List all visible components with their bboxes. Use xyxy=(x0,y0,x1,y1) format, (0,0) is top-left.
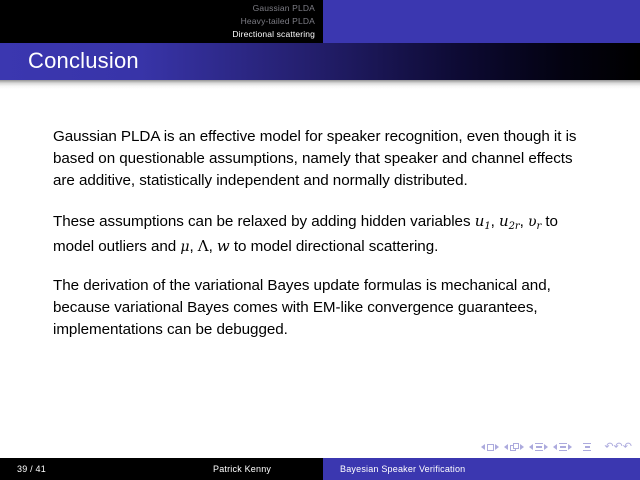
triangle-left-icon xyxy=(529,444,533,450)
triangle-right-icon xyxy=(568,444,572,450)
footer-page-number: 39 / 41 xyxy=(0,458,213,480)
triangle-right-icon xyxy=(520,444,524,450)
slide: Gaussian PLDA Heavy-tailed PLDA Directio… xyxy=(0,0,640,480)
footer-presentation-title: Bayesian Speaker Verification xyxy=(323,458,640,480)
variable-u2r-subscript: 2r xyxy=(509,221,520,232)
title-bar-shadow xyxy=(0,80,640,89)
triangle-right-icon xyxy=(544,444,548,450)
slide-body: Gaussian PLDA is an effective model for … xyxy=(53,126,589,342)
triangle-left-icon xyxy=(553,444,557,450)
nav-item-directional-scattering[interactable]: Directional scattering xyxy=(0,28,315,41)
paragraph-2-text-lead: These assumptions can be relaxed by addi… xyxy=(53,213,475,230)
variable-u1-subscript: 1 xyxy=(484,221,490,232)
paragraph-2-separator-4: , xyxy=(209,238,217,255)
nav-item-heavy-tailed-plda[interactable]: Heavy-tailed PLDA xyxy=(0,15,315,28)
paragraph-2-separator-1: , xyxy=(491,213,499,230)
triangle-right-icon xyxy=(495,444,499,450)
variable-upsilon-r: υr xyxy=(528,214,541,230)
frame-boxes-icon xyxy=(510,443,519,451)
page-title: Conclusion xyxy=(28,47,139,75)
subsection-icon[interactable] xyxy=(529,443,548,451)
section-icon[interactable] xyxy=(553,443,572,451)
body-paragraph-2: These assumptions can be relaxed by addi… xyxy=(53,210,589,258)
back-arrows-icon[interactable]: ↶↶↶ xyxy=(604,442,632,453)
subsection-lines-icon xyxy=(535,443,543,451)
beamer-navigation-symbols[interactable]: ↶↶↶ xyxy=(481,440,632,454)
navigation-list: Gaussian PLDA Heavy-tailed PLDA Directio… xyxy=(0,0,323,43)
nav-item-gaussian-plda[interactable]: Gaussian PLDA xyxy=(0,0,315,15)
presentation-icon[interactable] xyxy=(583,443,591,451)
variable-w: w xyxy=(217,237,230,255)
paragraph-2-separator-2: , xyxy=(520,213,528,230)
variable-u2r-base: u xyxy=(499,212,509,230)
paragraph-2-separator-3: , xyxy=(189,238,197,255)
variable-lambda: Λ xyxy=(198,237,209,255)
variable-u1-base: u xyxy=(475,212,485,230)
variable-u2r: u2r xyxy=(499,212,520,230)
triangle-left-icon xyxy=(504,444,508,450)
slide-box-icon xyxy=(487,444,494,451)
paragraph-2-text-tail: to model directional scattering. xyxy=(230,238,439,255)
section-lines-icon xyxy=(559,443,567,451)
body-paragraph-1: Gaussian PLDA is an effective model for … xyxy=(53,126,589,193)
footer-bar: 39 / 41 Patrick Kenny Bayesian Speaker V… xyxy=(0,458,640,480)
header-bar: Gaussian PLDA Heavy-tailed PLDA Directio… xyxy=(0,0,640,43)
presentation-lines-icon xyxy=(583,443,591,451)
variable-upsilon-subscript: r xyxy=(536,221,541,232)
body-paragraph-3: The derivation of the variational Bayes … xyxy=(53,275,589,342)
variable-u1: u1 xyxy=(475,212,491,230)
footer-author: Patrick Kenny xyxy=(213,458,323,480)
slide-first-icon[interactable] xyxy=(481,444,499,451)
slide-title-bar: Conclusion xyxy=(0,43,640,80)
triangle-left-icon xyxy=(481,444,485,450)
frame-icon[interactable] xyxy=(504,443,524,451)
